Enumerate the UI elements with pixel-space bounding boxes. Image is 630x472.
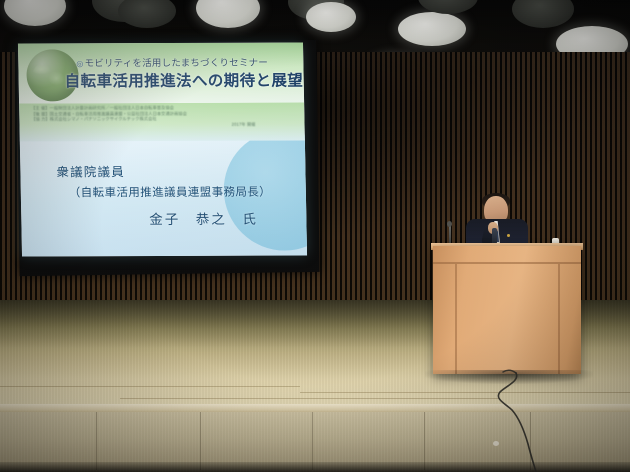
slide-speaker-role: 衆議院議員	[56, 161, 125, 180]
auditorium-photo: ◎モビリティを活用したまちづくりセミナー 自転車活用推進法への期待と展望 【主 …	[0, 0, 630, 472]
floor-seam-3	[120, 398, 500, 399]
ceiling-light-1	[4, 0, 66, 26]
gooseneck-microphone-head	[447, 221, 452, 227]
ceiling-light-4	[196, 0, 260, 28]
ceiling-light-6	[306, 2, 356, 32]
ceiling-light-3	[118, 0, 176, 28]
stage-base-shadow	[0, 462, 630, 472]
handheld-microphone-icon	[492, 228, 497, 244]
ceiling-light-7	[398, 12, 466, 46]
slide-fineprint: 【主 催】一般財団法人計量計画研究所／一般社団法人日本自転車普及協会 【後 援】…	[31, 105, 291, 128]
podium-panel-seam-right	[558, 264, 560, 374]
floor-seam-2	[300, 392, 630, 393]
ceiling-light-9	[512, 0, 574, 28]
slide-title: 自転車活用推進法への期待と展望	[64, 69, 302, 92]
podium-floor-shadow	[425, 370, 593, 384]
lapel-pin-icon	[507, 234, 510, 237]
slide-speaker-organization: （自転車活用推進議員連盟事務局長）	[69, 184, 272, 201]
slide-speaker-name: 金子 恭之 氏	[149, 208, 258, 228]
slide-subtitle-text: モビリティを活用したまちづくりセミナー	[84, 58, 268, 70]
projected-slide: ◎モビリティを活用したまちづくりセミナー 自転車活用推進法への期待と展望 【主 …	[18, 43, 307, 257]
floor-small-object	[493, 441, 499, 446]
podium-panel-seam-left	[455, 264, 457, 374]
subtitle-bullet-icon: ◎	[76, 59, 83, 68]
fineprint-line-4: 2017年 開催	[31, 121, 291, 128]
floor-seam-1	[0, 386, 300, 387]
slide-subtitle: ◎モビリティを活用したまちづくりセミナー	[76, 55, 294, 70]
